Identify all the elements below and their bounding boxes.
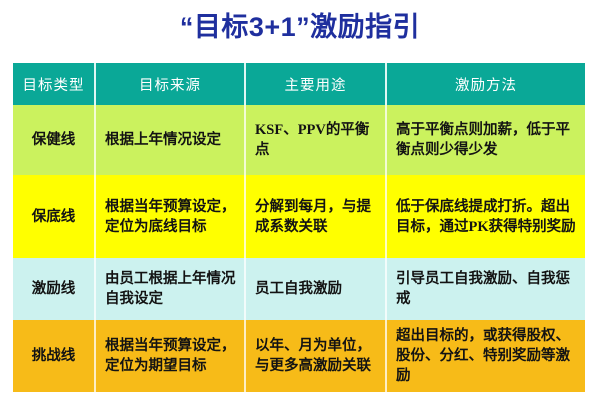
cell-purpose: 以年、月为单位，与更多高激励关联 [245,320,386,392]
cell-purpose: 员工自我激励 [245,258,386,320]
page-title: “目标3+1”激励指引 [0,8,600,46]
column-header-goal-type: 目标类型 [13,63,95,105]
cell-method: 高于平衡点则加薪，低于平衡点则少得少发 [386,105,585,175]
cell-category: 挑战线 [13,320,95,392]
cell-method: 引导员工自我激励、自我惩戒 [386,258,585,320]
cell-source: 根据当年预算设定，定位为期望目标 [95,320,245,392]
slide-page: “目标3+1”激励指引 目标类型 目标来源 主要用途 激励方法 保健线 根据上年… [0,0,600,402]
column-header-main-purpose: 主要用途 [245,63,386,105]
cell-source: 由员工根据上年情况自我设定 [95,258,245,320]
column-header-incentive-method: 激励方法 [386,63,585,105]
cell-method: 超出目标的，或获得股权、股份、分红、特别奖励等激励 [386,320,585,392]
cell-category: 保底线 [13,175,95,258]
table-row: 激励线 由员工根据上年情况自我设定 员工自我激励 引导员工自我激励、自我惩戒 [13,258,585,320]
cell-category: 激励线 [13,258,95,320]
table-header-row: 目标类型 目标来源 主要用途 激励方法 [13,63,585,105]
incentive-guideline-table: 目标类型 目标来源 主要用途 激励方法 保健线 根据上年情况设定 KSF、PPV… [13,63,585,392]
cell-source: 根据当年预算设定，定位为底线目标 [95,175,245,258]
cell-purpose: 分解到每月，与提成系数关联 [245,175,386,258]
cell-source: 根据上年情况设定 [95,105,245,175]
table-row: 保健线 根据上年情况设定 KSF、PPV的平衡点 高于平衡点则加薪，低于平衡点则… [13,105,585,175]
cell-method: 低于保底线提成打折。超出目标，通过PK获得特别奖励 [386,175,585,258]
column-header-goal-source: 目标来源 [95,63,245,105]
cell-category: 保健线 [13,105,95,175]
table-row: 挑战线 根据当年预算设定，定位为期望目标 以年、月为单位，与更多高激励关联 超出… [13,320,585,392]
table-row: 保底线 根据当年预算设定，定位为底线目标 分解到每月，与提成系数关联 低于保底线… [13,175,585,258]
cell-purpose: KSF、PPV的平衡点 [245,105,386,175]
